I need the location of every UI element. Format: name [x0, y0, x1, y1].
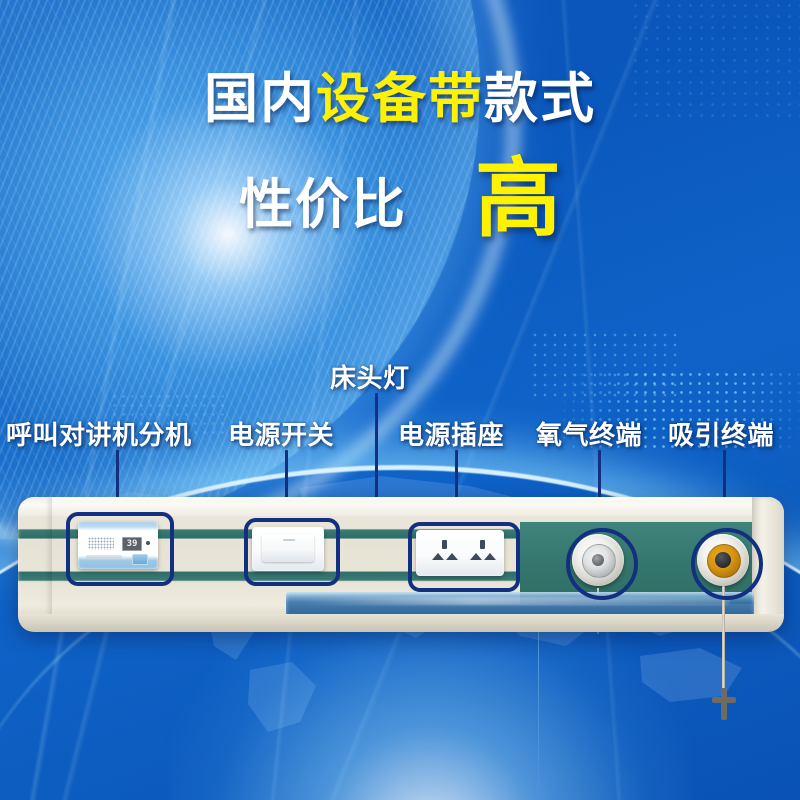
panel-left-end-cap — [18, 497, 52, 629]
headline-text-domestic: 国内 — [204, 69, 316, 129]
callout-label-call-intercom: 呼叫对讲机分机 — [6, 415, 192, 452]
highlight-box-call-intercom — [66, 512, 174, 586]
headline-line-1: 国内设备带款式 — [0, 72, 800, 126]
product-banner: 国内设备带款式 性价比 高 呼叫对讲机分机 电源开关 床头灯 电源插座 氧气终端… — [0, 0, 800, 800]
headline-text-high: 高 — [475, 156, 561, 242]
callout-label-power-switch: 电源开关 — [228, 415, 334, 452]
highlight-box-power-switch — [244, 518, 340, 586]
headline-block: 国内设备带款式 性价比 高 — [0, 72, 800, 126]
panel-bottom-lip — [18, 614, 784, 632]
callout-label-power-socket: 电源插座 — [398, 415, 504, 452]
callout-label-bed-lamp: 床头灯 — [330, 358, 410, 395]
headline-line-2: 性价比 高 — [0, 162, 800, 248]
highlight-box-power-socket — [408, 522, 520, 592]
vertical-light-line — [538, 620, 539, 800]
hose-fitting-vertical — [721, 688, 727, 720]
hose-fitting-horizontal — [712, 697, 736, 703]
panel-rail-highlight — [300, 597, 730, 605]
headline-text-value-ratio: 性价比 — [239, 178, 407, 232]
suction-hose — [722, 586, 725, 704]
halftone-dots-right-upper — [530, 330, 680, 400]
callout-label-oxygen-terminal: 氧气终端 — [536, 415, 642, 452]
highlight-ring-oxygen-terminal — [566, 528, 638, 600]
headline-text-equipment-belt: 设备带 — [316, 69, 484, 129]
suction-hose-fitting — [712, 688, 736, 720]
headline-text-style: 款式 — [484, 69, 596, 129]
highlight-ring-suction-terminal — [691, 528, 763, 600]
callout-label-suction-terminal: 吸引终端 — [668, 415, 774, 452]
